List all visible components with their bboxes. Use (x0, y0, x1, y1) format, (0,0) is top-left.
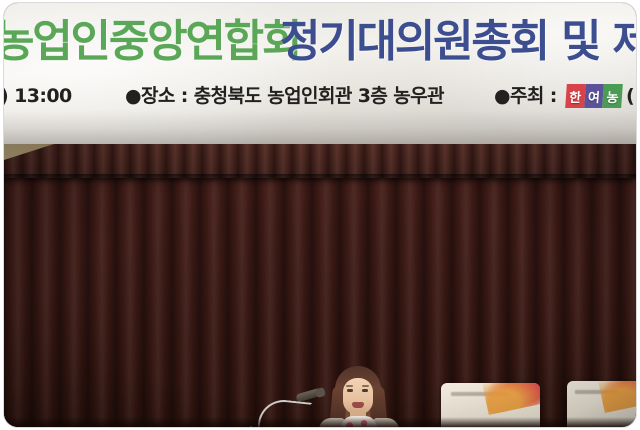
speaker-face (343, 378, 373, 414)
banner-time-text: ) 13:00 (4, 81, 72, 111)
speaker-eye-right (362, 389, 368, 392)
logo-block-yeo: 여 (584, 84, 604, 108)
banner-subline: ) 13:00 ●장소 : 충청북도 농업인회관 3층 농우관 ●주최 : ( (4, 81, 636, 111)
event-photograph: 농업인중앙연합회 정기대의원총회 및 제 ) 13:00 ●장소 : 충청북도 … (4, 3, 636, 427)
banner-host-label: ●주최 : (494, 81, 557, 111)
headline-event-text: 정기대의원총회 및 제 (280, 14, 636, 70)
booth-ribbon-graphic (481, 383, 540, 415)
booth-ribbon-graphic (597, 381, 636, 413)
curtain-valance (4, 144, 636, 178)
speaker-eyebrow-left (346, 385, 353, 387)
banner-place-text: ●장소 : 충청북도 농업인회관 3층 농우관 (125, 81, 444, 111)
headline-organization-text: 농업인중앙연합회 (4, 14, 300, 70)
banner-trailing-paren: ( (626, 81, 634, 111)
photo-frame: 농업인중앙연합회 정기대의원총회 및 제 ) 13:00 ●장소 : 충청북도 … (0, 0, 640, 430)
floor-shadow (4, 417, 636, 427)
speaker-eyebrow-right (362, 385, 369, 387)
organization-logo: 한 여 농 (565, 84, 623, 108)
logo-block-nong: 농 (603, 84, 623, 108)
speaker-mouth (352, 402, 364, 408)
banner-headline: 농업인중앙연합회 정기대의원총회 및 제 (4, 14, 636, 70)
speaker-eye-left (347, 389, 353, 392)
stage-area: 기표소 Polling Booth 기표소 Polling Booth (4, 144, 636, 427)
event-banner: 농업인중앙연합회 정기대의원총회 및 제 ) 13:00 ●장소 : 충청북도 … (4, 3, 636, 144)
logo-block-han: 한 (565, 84, 585, 108)
stage-curtain (4, 144, 636, 427)
banner-shadow (4, 110, 636, 144)
valance-edge-shadow (4, 174, 636, 182)
